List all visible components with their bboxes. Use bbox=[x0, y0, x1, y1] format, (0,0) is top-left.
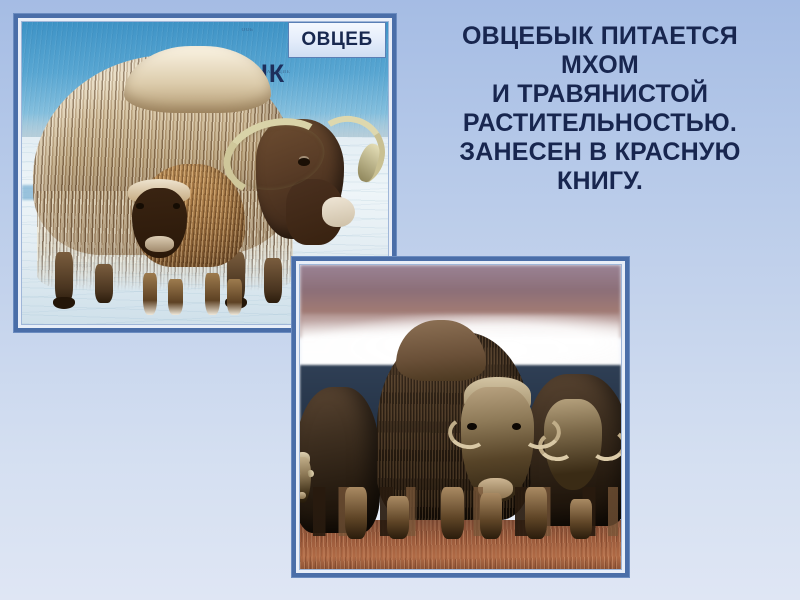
musk-ox-calf-eye bbox=[136, 203, 143, 208]
slide-canvas: ООБ МЛЕКОПИТАЮЩИЕ тундра ЫК bbox=[0, 0, 800, 600]
herd-ox-left-horn bbox=[308, 469, 315, 477]
photo-canvas bbox=[299, 264, 622, 570]
caption-line-5: ЗАНЕСЕН В КРАСНУЮ bbox=[404, 138, 796, 167]
caption-line-6: КНИГУ. bbox=[404, 167, 796, 196]
herd-ox-leg bbox=[387, 496, 409, 539]
musk-ox-calf-muzzle bbox=[145, 236, 174, 251]
musk-ox-calf-leg bbox=[168, 279, 183, 315]
adult-musk-ox-muzzle bbox=[322, 197, 355, 227]
caption-line-4: РАСТИТЕЛЬНОСТЬЮ. bbox=[404, 109, 796, 138]
herd-ox-leg bbox=[525, 487, 547, 539]
slide-caption: ОВЦЕБЫК ПИТАЕТСЯ МХОМ И ТРАВЯНИСТОЙ РАСТ… bbox=[404, 22, 796, 196]
musk-ox-calf-leg bbox=[143, 273, 158, 315]
ovtsebyk-label-box[interactable]: ОВЦЕБ bbox=[288, 22, 386, 58]
book-page-text-top: ООБ bbox=[242, 28, 254, 33]
herd-ox-leg bbox=[480, 493, 502, 539]
adult-musk-ox-hoof bbox=[53, 297, 75, 309]
musk-ox-calf-leg bbox=[205, 273, 220, 315]
caption-line-1: ОВЦЕБЫК ПИТАЕТСЯ bbox=[404, 22, 796, 51]
adult-musk-ox-eye bbox=[298, 158, 310, 166]
photo-musk-ox-herd bbox=[292, 257, 629, 577]
musk-ox-calf-leg bbox=[227, 279, 242, 315]
adult-musk-ox-leg bbox=[55, 252, 73, 303]
musk-ox-calf-eye bbox=[173, 203, 180, 208]
ovtsebyk-label-text: ОВЦЕБ bbox=[301, 29, 372, 51]
caption-line-2: МХОМ bbox=[404, 51, 796, 80]
herd-ox-leg bbox=[570, 499, 592, 539]
caption-line-3: И ТРАВЯНИСТОЙ bbox=[404, 80, 796, 109]
adult-musk-ox-leg bbox=[264, 258, 282, 303]
adult-musk-ox-leg bbox=[95, 264, 113, 303]
herd-ox-leg bbox=[345, 487, 367, 539]
herd-ox-center-eye bbox=[467, 423, 477, 430]
herd-ox-leg bbox=[441, 487, 463, 539]
